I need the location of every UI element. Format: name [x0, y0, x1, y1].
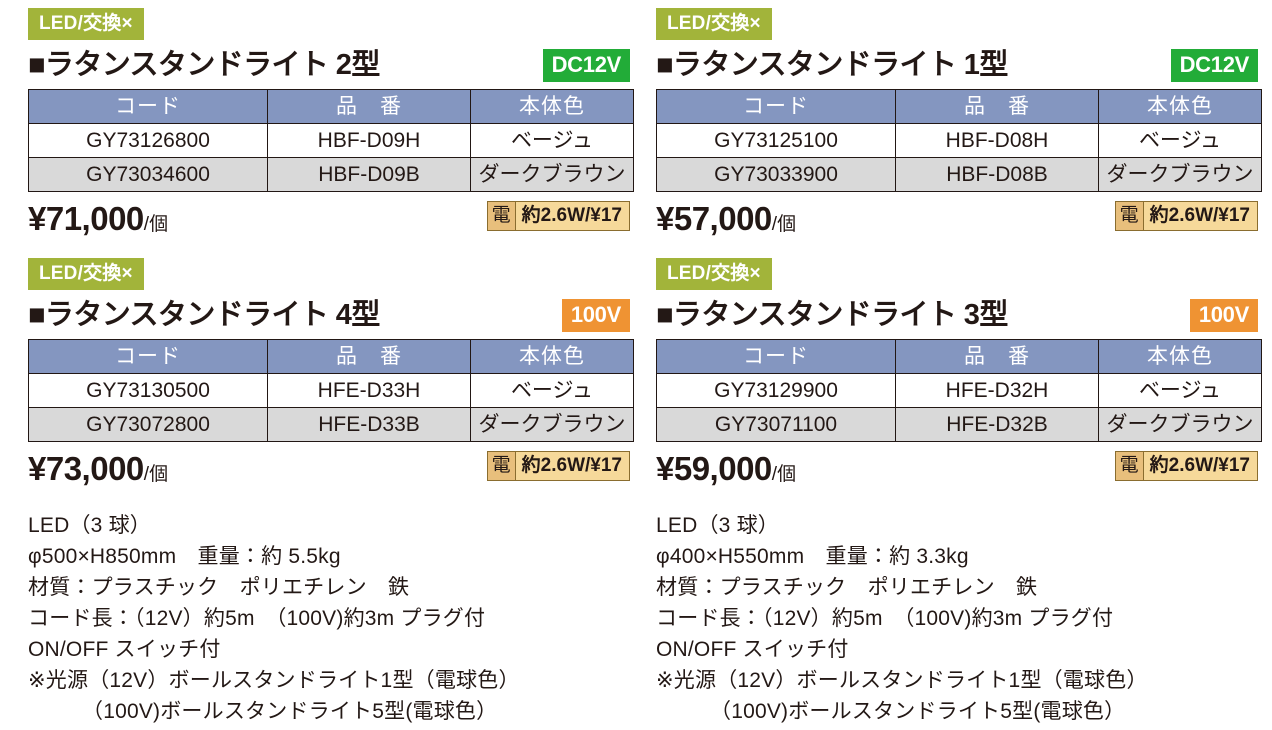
product-block-rattan-stand-light-1: LED/交換× ■ラタンスタンドライト 1型 DC12V コード 品 番 本体色…	[648, 8, 1260, 243]
column-header-code: コード	[29, 90, 268, 124]
cell-code: GY73129900	[657, 374, 896, 408]
voltage-badge: 100V	[562, 299, 630, 332]
table-header-row: コード 品 番 本体色	[657, 340, 1262, 374]
product-title: ■ラタンスタンドライト 2型	[28, 45, 380, 85]
product-title: ■ラタンスタンドライト 1型	[656, 45, 1008, 85]
power-consumption-text: 約2.6W/¥17	[516, 202, 629, 230]
price-row: ¥59,000/個 電 約2.6W/¥17	[648, 449, 1260, 493]
cell-color: ベージュ	[471, 124, 634, 158]
column-header-color: 本体色	[471, 90, 634, 124]
column-header-color: 本体色	[1099, 340, 1262, 374]
voltage-badge: DC12V	[1171, 49, 1258, 82]
table-row: GY73129900 HFE-D32H ベージュ	[657, 374, 1262, 408]
table-row: GY73071100 HFE-D32B ダークブラウン	[657, 408, 1262, 442]
led-replacement-tag: LED/交換×	[28, 258, 144, 290]
product-description: LED（3 球） φ500×H850mm 重量：約 5.5kg 材質：プラスチッ…	[28, 510, 632, 727]
cell-color: ベージュ	[1099, 124, 1262, 158]
title-row: ■ラタンスタンドライト 1型 DC12V	[648, 45, 1260, 89]
cell-model: HFE-D33B	[268, 408, 471, 442]
led-replacement-tag: LED/交換×	[656, 258, 772, 290]
table-row: GY73072800 HFE-D33B ダークブラウン	[29, 408, 634, 442]
table-header-row: コード 品 番 本体色	[29, 340, 634, 374]
description-line: LED（3 球）	[656, 510, 1260, 541]
led-tag-wrapper: LED/交換×	[648, 8, 1260, 40]
description-line: 材質：プラスチック ポリエチレン 鉄	[656, 572, 1260, 603]
table-header-row: コード 品 番 本体色	[29, 90, 634, 124]
led-tag-wrapper: LED/交換×	[20, 258, 632, 290]
description-line: コード長：（12V）約5m （100V)約3m プラグ付	[656, 603, 1260, 634]
table-row: GY73034600 HBF-D09B ダークブラウン	[29, 158, 634, 192]
product-price: ¥71,000/個	[28, 199, 168, 245]
electricity-icon: 電	[1116, 452, 1144, 480]
cell-model: HBF-D09H	[268, 124, 471, 158]
cell-code: GY73071100	[657, 408, 896, 442]
price-amount: ¥73,000	[28, 450, 144, 487]
table-row: GY73126800 HBF-D09H ベージュ	[29, 124, 634, 158]
power-consumption-badge: 電 約2.6W/¥17	[487, 201, 630, 231]
description-line: φ500×H850mm 重量：約 5.5kg	[28, 541, 632, 572]
description-line: ※光源（12V）ボールスタンドライト1型（電球色）	[28, 665, 632, 696]
cell-color: ベージュ	[471, 374, 634, 408]
cell-color: ダークブラウン	[471, 158, 634, 192]
cell-color: ダークブラウン	[1099, 158, 1262, 192]
description-line: LED（3 球）	[28, 510, 632, 541]
cell-code: GY73033900	[657, 158, 896, 192]
cell-model: HFE-D33H	[268, 374, 471, 408]
cell-model: HBF-D08H	[896, 124, 1099, 158]
description-line: φ400×H550mm 重量：約 3.3kg	[656, 541, 1260, 572]
catalog-page: LED/交換× ■ラタンスタンドライト 2型 DC12V コード 品 番 本体色…	[0, 0, 1272, 730]
column-header-color: 本体色	[471, 340, 634, 374]
price-row: ¥71,000/個 電 約2.6W/¥17	[20, 199, 632, 243]
column-header-model: 品 番	[268, 340, 471, 374]
table-row: GY73125100 HBF-D08H ベージュ	[657, 124, 1262, 158]
description-line: （100V)ボールスタンドライト5型(電球色）	[28, 696, 632, 727]
electricity-icon: 電	[1116, 202, 1144, 230]
electricity-icon: 電	[488, 452, 516, 480]
price-unit: /個	[772, 464, 796, 485]
description-line: （100V)ボールスタンドライト5型(電球色）	[656, 696, 1260, 727]
product-price: ¥57,000/個	[656, 199, 796, 245]
table-header-row: コード 品 番 本体色	[657, 90, 1262, 124]
description-line: ON/OFF スイッチ付	[656, 634, 1260, 665]
table-row: GY73130500 HFE-D33H ベージュ	[29, 374, 634, 408]
spec-table: コード 品 番 本体色 GY73130500 HFE-D33H ベージュ GY7…	[28, 339, 634, 442]
product-title: ■ラタンスタンドライト 3型	[656, 295, 1008, 335]
description-line: ※光源（12V）ボールスタンドライト1型（電球色）	[656, 665, 1260, 696]
product-block-rattan-stand-light-4: LED/交換× ■ラタンスタンドライト 4型 100V コード 品 番 本体色 …	[20, 258, 632, 727]
cell-code: GY73126800	[29, 124, 268, 158]
product-description: LED（3 球） φ400×H550mm 重量：約 3.3kg 材質：プラスチッ…	[656, 510, 1260, 727]
spec-table: コード 品 番 本体色 GY73125100 HBF-D08H ベージュ GY7…	[656, 89, 1262, 192]
cell-color: ダークブラウン	[471, 408, 634, 442]
cell-model: HBF-D08B	[896, 158, 1099, 192]
price-unit: /個	[772, 214, 796, 235]
price-unit: /個	[144, 464, 168, 485]
cell-model: HFE-D32H	[896, 374, 1099, 408]
table-row: GY73033900 HBF-D08B ダークブラウン	[657, 158, 1262, 192]
price-unit: /個	[144, 214, 168, 235]
power-consumption-text: 約2.6W/¥17	[516, 452, 629, 480]
title-row: ■ラタンスタンドライト 4型 100V	[20, 295, 632, 339]
description-line: ON/OFF スイッチ付	[28, 634, 632, 665]
power-consumption-badge: 電 約2.6W/¥17	[487, 451, 630, 481]
column-header-color: 本体色	[1099, 90, 1262, 124]
led-tag-wrapper: LED/交換×	[648, 258, 1260, 290]
price-amount: ¥59,000	[656, 450, 772, 487]
voltage-badge: 100V	[1190, 299, 1258, 332]
title-row: ■ラタンスタンドライト 3型 100V	[648, 295, 1260, 339]
voltage-badge: DC12V	[543, 49, 630, 82]
price-row: ¥57,000/個 電 約2.6W/¥17	[648, 199, 1260, 243]
product-title: ■ラタンスタンドライト 4型	[28, 295, 380, 335]
product-block-rattan-stand-light-3: LED/交換× ■ラタンスタンドライト 3型 100V コード 品 番 本体色 …	[648, 258, 1260, 727]
electricity-icon: 電	[488, 202, 516, 230]
cell-code: GY73130500	[29, 374, 268, 408]
spec-table: コード 品 番 本体色 GY73129900 HFE-D32H ベージュ GY7…	[656, 339, 1262, 442]
column-header-model: 品 番	[896, 340, 1099, 374]
price-row: ¥73,000/個 電 約2.6W/¥17	[20, 449, 632, 493]
column-header-code: コード	[29, 340, 268, 374]
product-price: ¥59,000/個	[656, 449, 796, 495]
price-amount: ¥71,000	[28, 200, 144, 237]
power-consumption-badge: 電 約2.6W/¥17	[1115, 451, 1258, 481]
power-consumption-badge: 電 約2.6W/¥17	[1115, 201, 1258, 231]
cell-color: ダークブラウン	[1099, 408, 1262, 442]
power-consumption-text: 約2.6W/¥17	[1144, 452, 1257, 480]
price-amount: ¥57,000	[656, 200, 772, 237]
power-consumption-text: 約2.6W/¥17	[1144, 202, 1257, 230]
cell-code: GY73125100	[657, 124, 896, 158]
cell-model: HFE-D32B	[896, 408, 1099, 442]
product-block-rattan-stand-light-2: LED/交換× ■ラタンスタンドライト 2型 DC12V コード 品 番 本体色…	[20, 8, 632, 243]
cell-model: HBF-D09B	[268, 158, 471, 192]
led-replacement-tag: LED/交換×	[656, 8, 772, 40]
led-tag-wrapper: LED/交換×	[20, 8, 632, 40]
column-header-code: コード	[657, 90, 896, 124]
column-header-model: 品 番	[268, 90, 471, 124]
column-header-model: 品 番	[896, 90, 1099, 124]
cell-color: ベージュ	[1099, 374, 1262, 408]
led-replacement-tag: LED/交換×	[28, 8, 144, 40]
cell-code: GY73072800	[29, 408, 268, 442]
cell-code: GY73034600	[29, 158, 268, 192]
spec-table: コード 品 番 本体色 GY73126800 HBF-D09H ベージュ GY7…	[28, 89, 634, 192]
product-price: ¥73,000/個	[28, 449, 168, 495]
column-header-code: コード	[657, 340, 896, 374]
description-line: コード長：（12V）約5m （100V)約3m プラグ付	[28, 603, 632, 634]
description-line: 材質：プラスチック ポリエチレン 鉄	[28, 572, 632, 603]
title-row: ■ラタンスタンドライト 2型 DC12V	[20, 45, 632, 89]
